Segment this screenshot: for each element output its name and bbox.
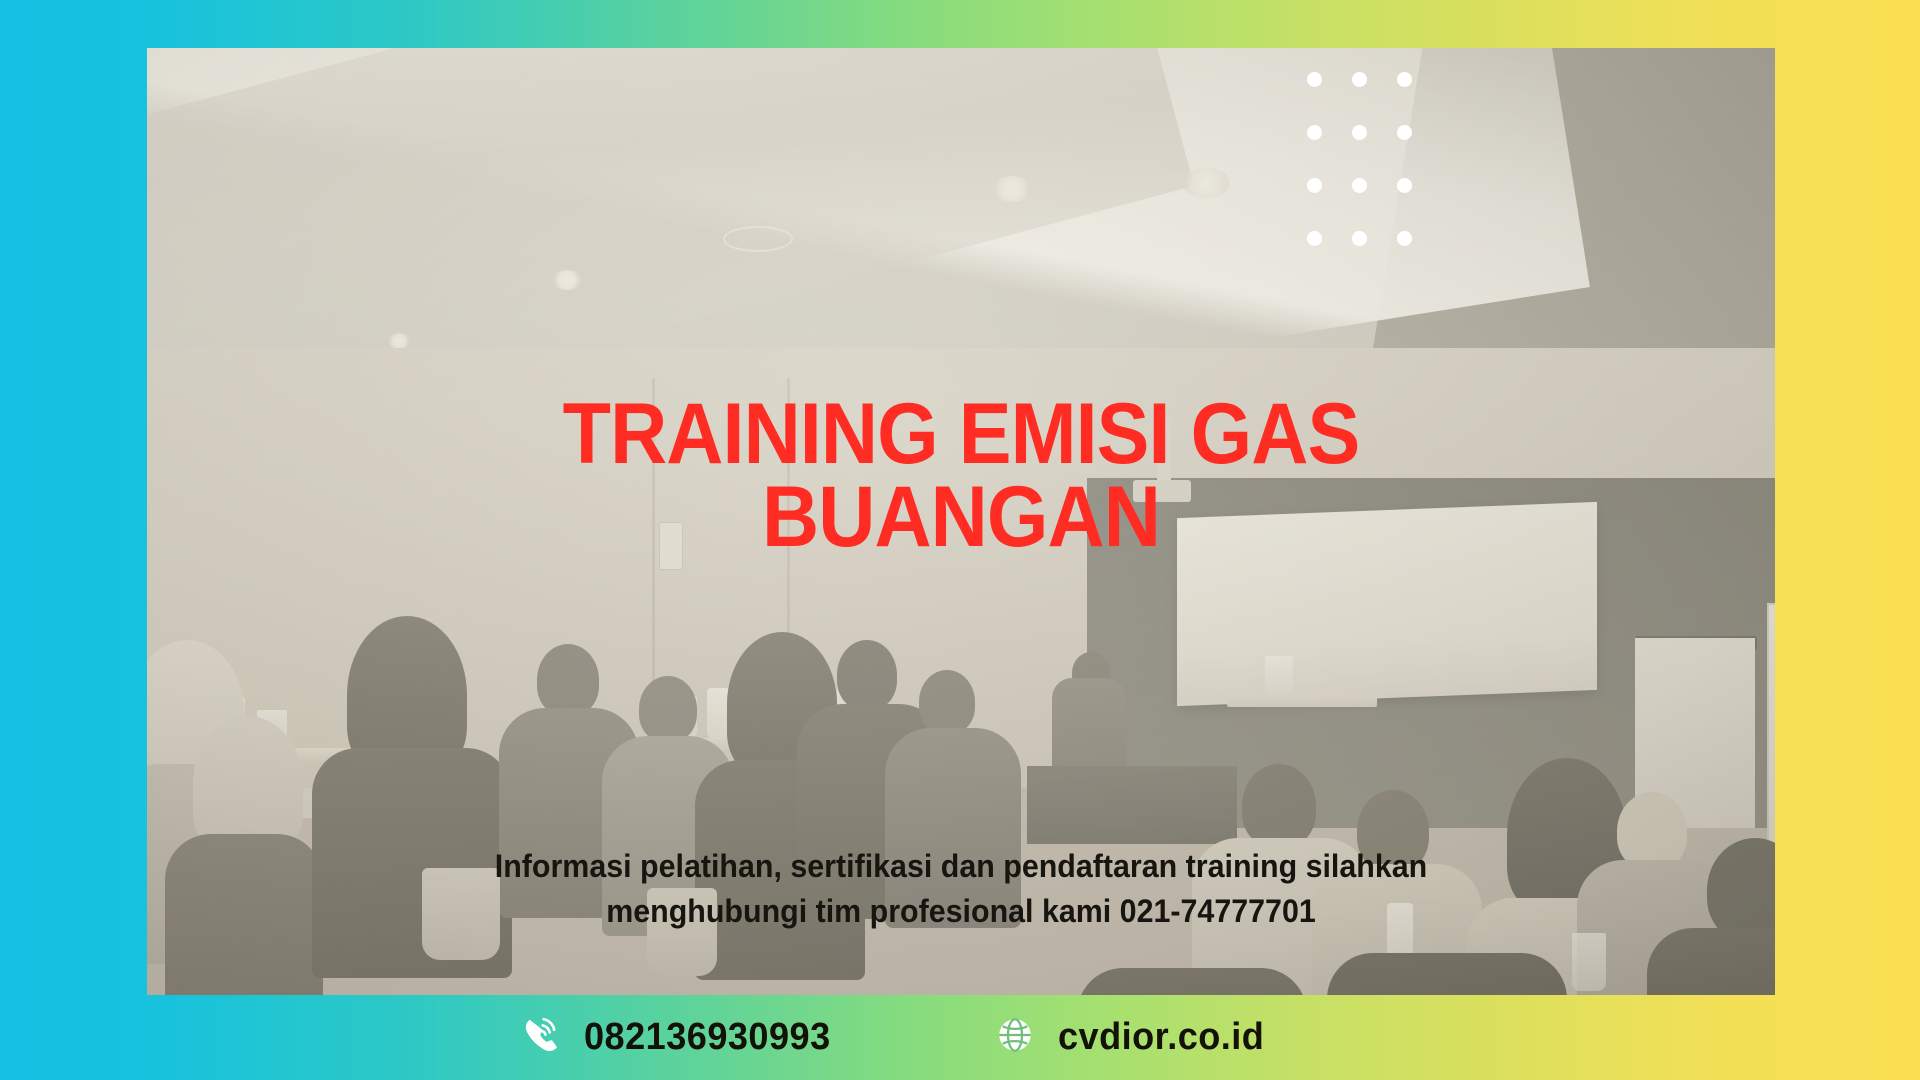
wifi-password-standee: neo WIFI Meeting Room PASSWORD bbox=[1767, 603, 1775, 872]
standee-wifi-label: WIFI bbox=[1769, 745, 1775, 761]
ceiling-light bbox=[388, 333, 410, 349]
standee-room-label: Meeting Room bbox=[1769, 767, 1775, 777]
ceiling-light bbox=[1182, 168, 1230, 198]
grid-dot bbox=[1397, 125, 1412, 140]
poster-canvas: neo WIFI Meeting Room PASSWORD bbox=[0, 0, 1920, 1080]
grid-dot bbox=[1397, 231, 1412, 246]
contact-phone[interactable]: 082136930993 bbox=[520, 1014, 844, 1061]
contact-footer: 082136930993 cvdior.co.id bbox=[0, 995, 1920, 1080]
poster-headline: TRAINING EMISI GAS BUANGAN bbox=[212, 393, 1710, 560]
website-url: cvdior.co.id bbox=[1058, 1016, 1264, 1059]
grid-dot bbox=[1307, 72, 1322, 87]
standee-logo: neo bbox=[1769, 629, 1775, 652]
grid-dot bbox=[1307, 231, 1322, 246]
globe-icon bbox=[994, 1014, 1036, 1061]
grid-dot bbox=[1352, 231, 1367, 246]
ceiling-vent-ring bbox=[723, 226, 793, 252]
audience-table bbox=[1227, 694, 1377, 707]
grid-dot bbox=[1307, 178, 1322, 193]
contact-website[interactable]: cvdior.co.id bbox=[994, 1014, 1275, 1061]
grid-dot bbox=[1352, 178, 1367, 193]
grid-dot bbox=[1352, 125, 1367, 140]
presenter-table bbox=[1027, 766, 1237, 844]
grid-dot bbox=[1352, 72, 1367, 87]
decorative-dot-grid bbox=[1307, 72, 1442, 284]
drinking-glass bbox=[1265, 656, 1293, 696]
ceiling-light bbox=[552, 270, 582, 290]
drinking-glass bbox=[1572, 933, 1606, 991]
poster-subtitle: Informasi pelatihan, sertifikasi dan pen… bbox=[188, 844, 1735, 935]
grid-dot bbox=[1307, 125, 1322, 140]
standee-password-label: PASSWORD bbox=[1769, 785, 1775, 801]
grid-dot bbox=[1397, 72, 1412, 87]
phone-icon bbox=[520, 1014, 562, 1061]
phone-number: 082136930993 bbox=[584, 1016, 831, 1059]
ceiling-light bbox=[992, 176, 1032, 202]
grid-dot bbox=[1397, 178, 1412, 193]
